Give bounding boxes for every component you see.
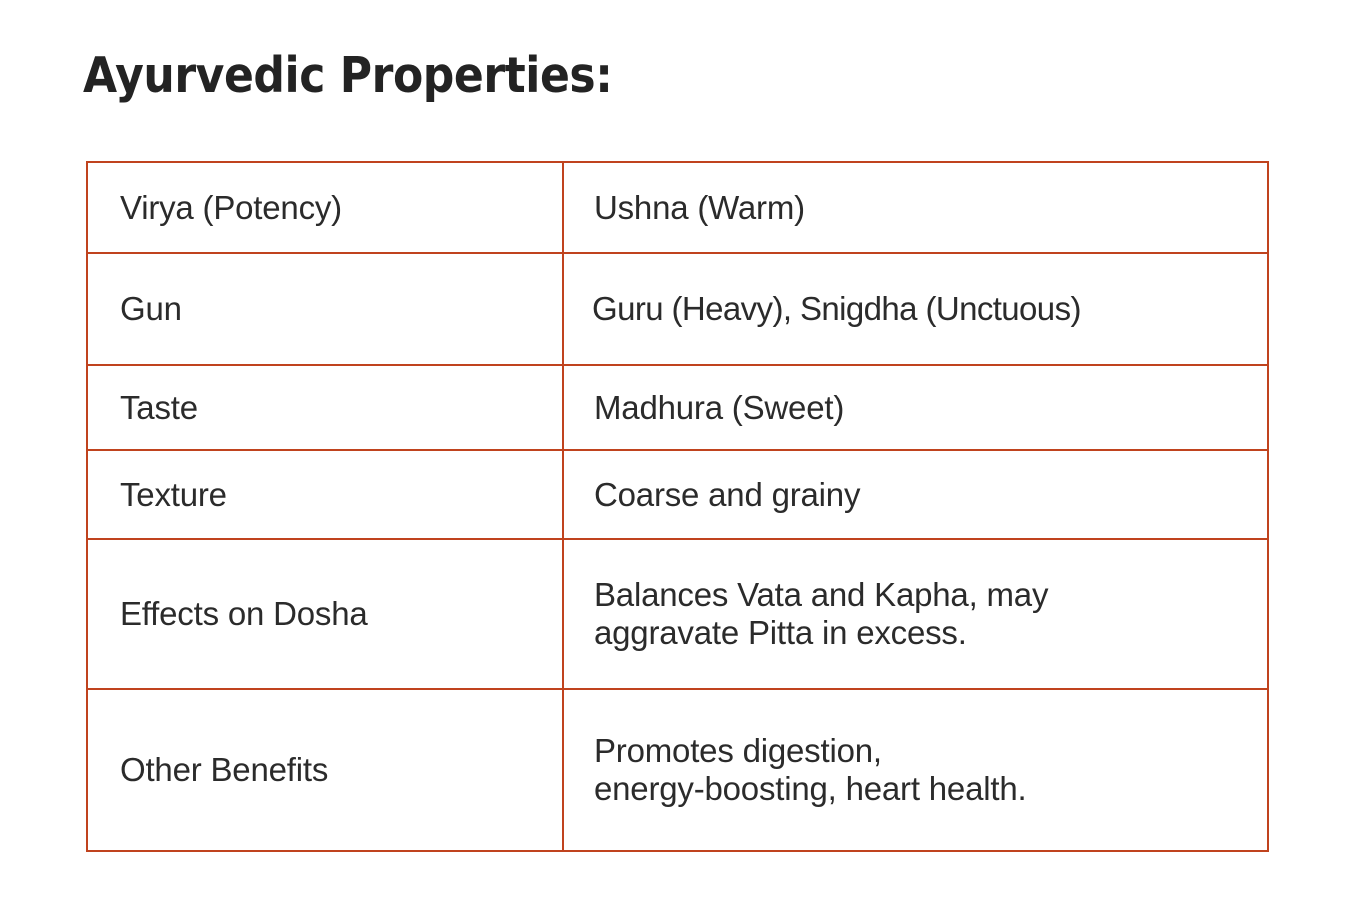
- table-row: Virya (Potency) Ushna (Warm): [87, 162, 1268, 253]
- property-value: Guru (Heavy), Snigdha (Unctuous): [564, 290, 1267, 328]
- document-page: Ayurvedic Properties: Virya (Potency) Us…: [0, 0, 1350, 900]
- table-row: Effects on Dosha Balances Vata and Kapha…: [87, 539, 1268, 689]
- table-row: Gun Guru (Heavy), Snigdha (Unctuous): [87, 253, 1268, 365]
- table-cell-value: Coarse and grainy: [563, 450, 1268, 539]
- property-label: Other Benefits: [88, 751, 562, 789]
- table-cell-property: Taste: [87, 365, 563, 450]
- property-label: Effects on Dosha: [88, 595, 562, 633]
- table-cell-property: Texture: [87, 450, 563, 539]
- property-value: Ushna (Warm): [564, 189, 1267, 227]
- table-cell-property: Virya (Potency): [87, 162, 563, 253]
- property-label: Virya (Potency): [88, 189, 562, 227]
- table-cell-property: Gun: [87, 253, 563, 365]
- table-row: Texture Coarse and grainy: [87, 450, 1268, 539]
- table-row: Taste Madhura (Sweet): [87, 365, 1268, 450]
- property-value: Madhura (Sweet): [564, 389, 1267, 427]
- table-cell-property: Effects on Dosha: [87, 539, 563, 689]
- table-row: Other Benefits Promotes digestion, energ…: [87, 689, 1268, 851]
- table-cell-value: Guru (Heavy), Snigdha (Unctuous): [563, 253, 1268, 365]
- property-value: Balances Vata and Kapha, may aggravate P…: [564, 576, 1267, 653]
- table-cell-value: Madhura (Sweet): [563, 365, 1268, 450]
- property-value: Promotes digestion, energy-boosting, hea…: [564, 732, 1267, 809]
- table-cell-value: Balances Vata and Kapha, may aggravate P…: [563, 539, 1268, 689]
- table-cell-value: Ushna (Warm): [563, 162, 1268, 253]
- property-label: Taste: [88, 389, 562, 427]
- property-value: Coarse and grainy: [564, 476, 1267, 514]
- table-cell-property: Other Benefits: [87, 689, 563, 851]
- table-cell-value: Promotes digestion, energy-boosting, hea…: [563, 689, 1268, 851]
- property-label: Texture: [88, 476, 562, 514]
- property-label: Gun: [88, 290, 562, 328]
- ayurvedic-properties-table: Virya (Potency) Ushna (Warm) Gun Guru (H…: [86, 161, 1269, 852]
- page-title: Ayurvedic Properties:: [83, 50, 612, 101]
